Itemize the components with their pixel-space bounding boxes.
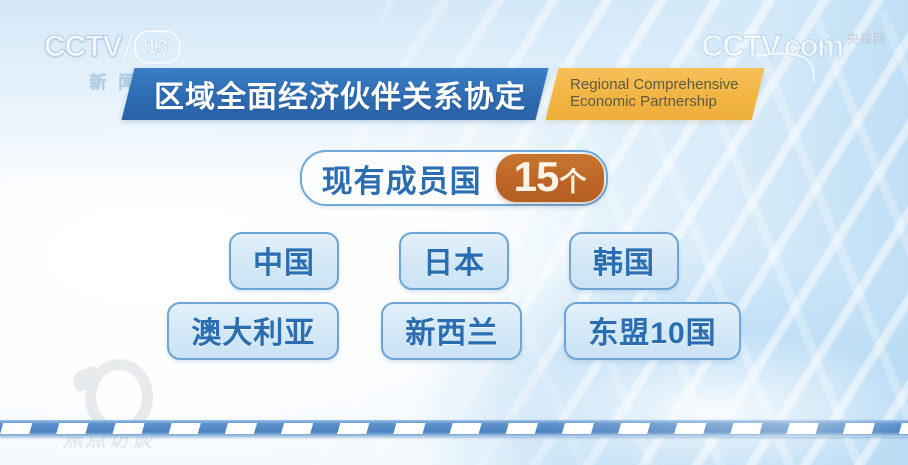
- program-logo-icon: [71, 355, 145, 429]
- country-pill: 日本: [399, 232, 509, 290]
- country-pill: 新西兰: [381, 302, 522, 360]
- country-pill: 东盟10国: [564, 302, 740, 360]
- slash-icon: [122, 33, 133, 61]
- title-banner-english-line2: Economic Partnership: [570, 94, 738, 111]
- country-pill: 中国: [229, 232, 339, 290]
- country-pill: 韩国: [569, 232, 679, 290]
- member-countries-row-2: 澳大利亚 新西兰 东盟10国: [0, 302, 908, 360]
- title-banner: 区域全面经济伙伴关系协定 Regional Comprehensive Econ…: [128, 68, 758, 120]
- cctv-com-watermark: CCTV com 央视网: [701, 30, 886, 61]
- title-banner-chinese: 区域全面经济伙伴关系协定: [122, 68, 549, 120]
- members-count-unit: 个: [559, 169, 586, 196]
- member-countries: 中国 日本 韩国 澳大利亚 新西兰 东盟10国: [0, 232, 908, 360]
- country-pill: 澳大利亚: [167, 302, 339, 360]
- members-count-value: 15: [514, 156, 559, 198]
- members-count-pill: 15 个: [496, 154, 605, 202]
- cctv13-logo-row: CCTV 13: [44, 30, 181, 64]
- bottom-film-strip: [0, 420, 908, 437]
- cctv-wordmark: CCTV: [44, 32, 122, 62]
- title-banner-chinese-text: 区域全面经济伙伴关系协定: [154, 72, 526, 116]
- broadcast-graphic-screen: CCTV 13 新闻 CCTV com 央视网 区域全面经济伙伴关系协定 Reg…: [0, 0, 908, 465]
- cctv-com-chinese-label: 央视网: [847, 30, 886, 47]
- title-banner-english-line1: Regional Comprehensive: [570, 77, 738, 94]
- members-headline-box: 现有成员国 15 个: [300, 150, 609, 206]
- program-watermark: 焦点访谈: [62, 355, 154, 453]
- title-banner-english-block: Regional Comprehensive Economic Partners…: [570, 77, 738, 111]
- channel-number-badge: 13: [134, 30, 181, 64]
- members-label: 现有成员国: [322, 156, 496, 201]
- title-banner-english: Regional Comprehensive Economic Partners…: [546, 68, 765, 120]
- member-countries-row-1: 中国 日本 韩国: [0, 232, 908, 290]
- members-headline-row: 现有成员国 15 个: [0, 150, 908, 206]
